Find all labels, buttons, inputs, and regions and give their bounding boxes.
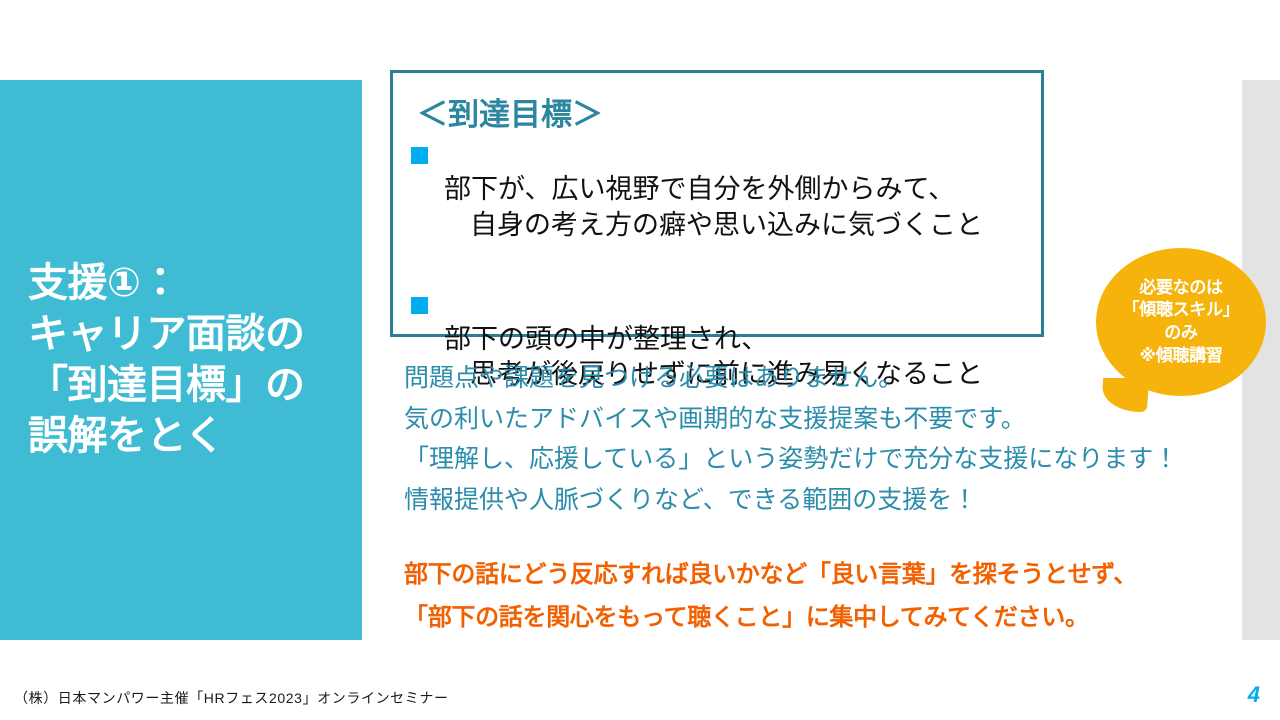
- goal-item-line-2: 自身の考え方の癖や思い込みに気づくこと: [444, 208, 983, 244]
- goal-item-text: 部下が、広い視野で自分を外側からみて、 自身の考え方の癖や思い込みに気づくこと: [444, 136, 983, 280]
- bubble-line: のみ: [1164, 322, 1197, 345]
- bubble-line: ※傾聴講習: [1139, 345, 1222, 368]
- emphasis-line: 「部下の話を関心をもって聴くこと」に集中してみてください。: [404, 597, 1164, 640]
- square-bullet-icon: [411, 297, 428, 314]
- body-paragraph: 問題点や課題を見つける必要はありません。 気の利いたアドバイスや画期的な支援提案…: [404, 358, 1144, 520]
- bubble-line: 「傾聴スキル」: [1123, 299, 1240, 322]
- goal-item-line-1: 部下の頭の中が整理され、: [444, 324, 768, 354]
- speech-bubble-body: 必要なのは 「傾聴スキル」 のみ ※傾聴講習: [1096, 248, 1266, 396]
- goal-callout-box: ＜到達目標＞ 部下が、広い視野で自分を外側からみて、 自身の考え方の癖や思い込み…: [390, 70, 1044, 337]
- body-line: 問題点や課題を見つける必要はありません。: [404, 358, 1144, 399]
- emphasis-line: 部下の話にどう反応すれば良いかなど「良い言葉」を探そうとせず、: [404, 554, 1164, 597]
- square-bullet-icon: [411, 147, 428, 164]
- page-number: 4: [1248, 682, 1260, 708]
- footer-note: （株）日本マンパワー主催「HRフェス2023」オンラインセミナー: [14, 688, 449, 708]
- bubble-line: 必要なのは: [1139, 277, 1223, 300]
- callout-speech-bubble: 必要なのは 「傾聴スキル」 のみ ※傾聴講習: [1096, 248, 1266, 396]
- goal-box-heading: ＜到達目標＞: [417, 99, 1041, 130]
- slide-title-panel: 支援①： キャリア面談の 「到達目標」の 誤解をとく: [0, 80, 362, 640]
- page-title: 支援①： キャリア面談の 「到達目標」の 誤解をとく: [0, 258, 315, 463]
- goal-item-line-1: 部下が、広い視野で自分を外側からみて、: [444, 174, 955, 204]
- goal-list-item: 部下が、広い視野で自分を外側からみて、 自身の考え方の癖や思い込みに気づくこと: [411, 136, 1041, 280]
- body-line: 気の利いたアドバイスや画期的な支援提案も不要です。: [404, 399, 1144, 440]
- body-line: 情報提供や人脈づくりなど、できる範囲の支援を！: [404, 480, 1144, 521]
- emphasis-paragraph: 部下の話にどう反応すれば良いかなど「良い言葉」を探そうとせず、 「部下の話を関心…: [404, 554, 1164, 639]
- body-line: 「理解し、応援している」という姿勢だけで充分な支援になります！: [404, 439, 1144, 480]
- slide-canvas: 支援①： キャリア面談の 「到達目標」の 誤解をとく ＜到達目標＞ 部下が、広い…: [0, 0, 1280, 720]
